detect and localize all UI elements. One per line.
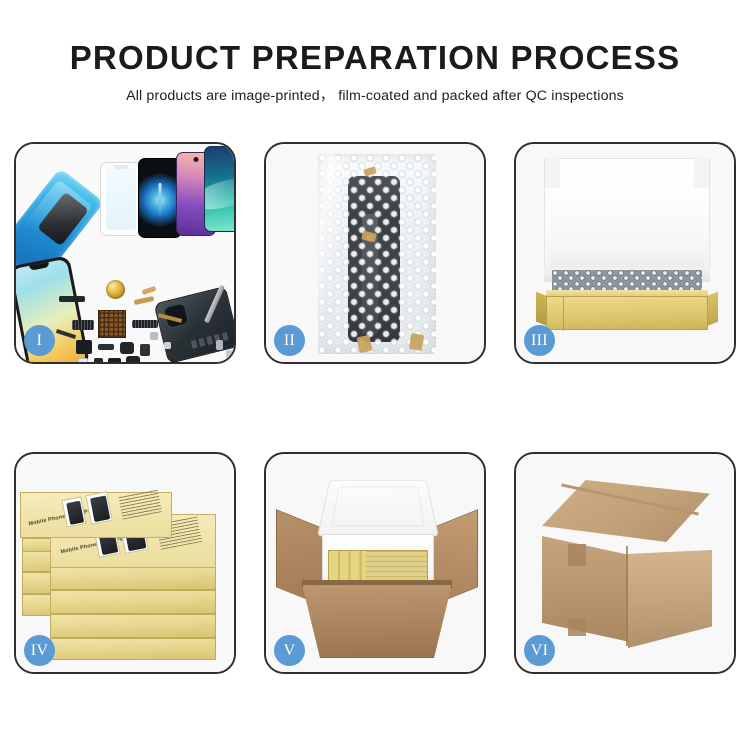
component-part (164, 342, 171, 349)
component-part (140, 344, 150, 356)
tempered-glass-part (100, 162, 142, 236)
component-part (94, 358, 103, 364)
retail-box (50, 590, 216, 614)
process-step-panel-4[interactable]: Mobile Phone Spare Parts Mobile Phone Sp… (14, 452, 236, 674)
tape-piece (409, 333, 425, 351)
component-part (108, 358, 121, 364)
process-step-panel-2[interactable]: II (264, 142, 486, 364)
step-badge-6: VI (524, 635, 555, 666)
speaker-coil-part (106, 280, 125, 299)
bubble-wrap-bag (318, 154, 436, 354)
chip-array-part (98, 310, 126, 338)
retail-box (50, 566, 216, 590)
foam-insert (550, 188, 704, 270)
step-badge-1: I (24, 325, 55, 356)
component-part (126, 356, 140, 364)
component-part (98, 344, 114, 350)
outer-carton (302, 584, 452, 658)
step-badge-4: IV (24, 635, 55, 666)
box-lid-flap-right (694, 158, 710, 188)
component-part (150, 332, 158, 340)
retail-box (50, 614, 216, 638)
carton-tape-lower (568, 618, 586, 636)
component-part (59, 296, 85, 302)
step-badge-3: III (524, 325, 555, 356)
component-part (78, 358, 88, 364)
box-lid-flap-left (544, 158, 560, 188)
component-part (226, 350, 232, 358)
process-step-panel-3[interactable]: III (514, 142, 736, 364)
component-part (216, 340, 223, 350)
box-front-panel (546, 296, 708, 330)
step-badge-2: II (274, 325, 305, 356)
foam-box-lid (317, 480, 439, 536)
product-preparation-process-page: PRODUCT PREPARATION PROCESS All products… (0, 0, 750, 750)
process-step-panel-1[interactable]: I (14, 142, 236, 364)
teal-phone-part (204, 146, 236, 232)
page-title: PRODUCT PREPARATION PROCESS (0, 0, 750, 78)
step-badge-5: V (274, 635, 305, 666)
carton-side-face (628, 550, 712, 648)
carton-corner-edge (626, 546, 628, 646)
carton-tape-upper (568, 544, 586, 566)
component-part (76, 340, 92, 354)
process-step-grid: I II (14, 142, 736, 674)
page-subtitle: All products are image-printed， film-coa… (0, 78, 750, 105)
retail-box (50, 638, 216, 660)
component-part (132, 320, 158, 328)
page-header: PRODUCT PREPARATION PROCESS All products… (0, 0, 750, 105)
component-part (72, 320, 94, 330)
process-step-panel-5[interactable]: V (264, 452, 486, 674)
component-part (120, 342, 134, 354)
carton-front-face (542, 536, 630, 642)
process-step-panel-6[interactable]: VI (514, 452, 736, 674)
